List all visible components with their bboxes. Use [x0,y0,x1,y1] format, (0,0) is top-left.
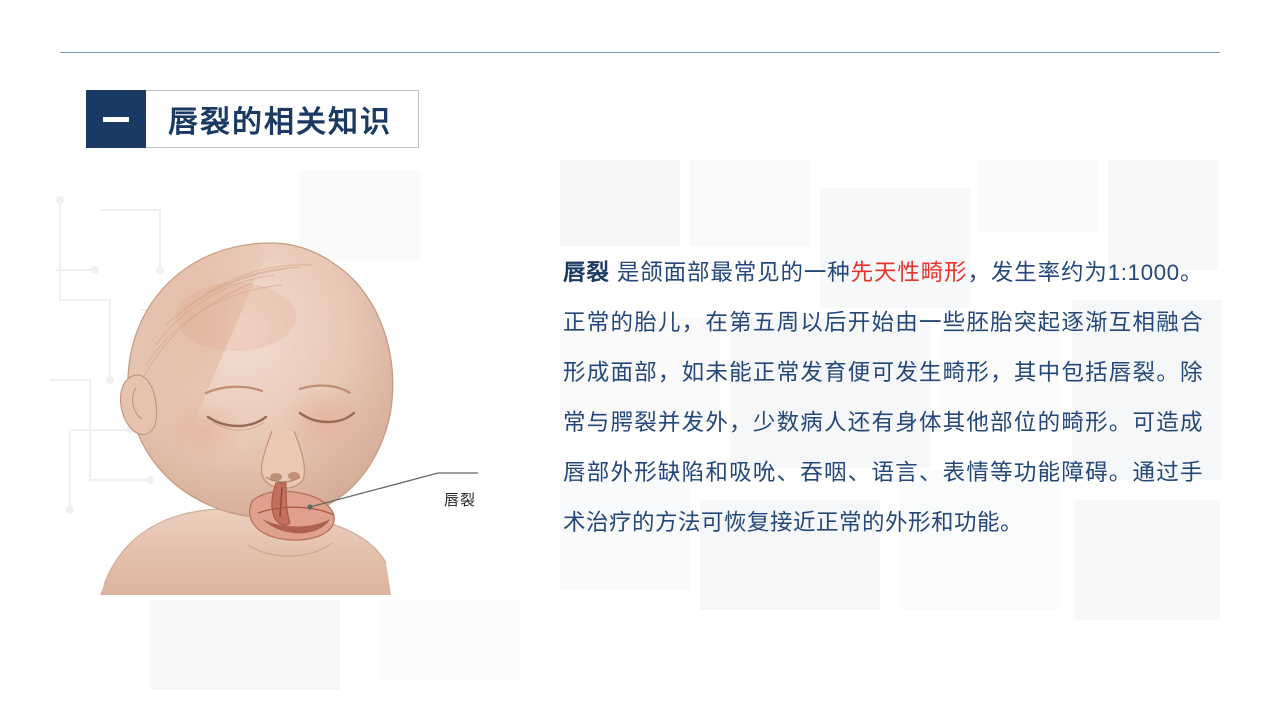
header-divider [60,52,1220,53]
lead-term: 唇裂 [563,260,610,285]
page-title: 唇裂的相关知识 [168,97,392,141]
slide-title-bar: 唇裂的相关知识 [86,90,419,148]
infant-cleft-lip-illustration [86,225,506,595]
body-part-1: 是颌面部最常见的一种 [610,260,851,285]
dash-icon [103,117,129,122]
figure-caption: 唇裂 [444,489,476,510]
body-part-2: ，发生率约为1:1000。正常的胎儿，在第五周以后开始由一些胚胎突起逐渐互相融合… [563,260,1203,535]
title-marker-square [86,90,146,148]
body-paragraph: 唇裂 是颌面部最常见的一种先天性畸形，发生率约为1:1000。正常的胎儿，在第五… [563,248,1203,548]
title-box: 唇裂的相关知识 [146,90,419,148]
highlighted-term: 先天性畸形 [851,260,968,285]
